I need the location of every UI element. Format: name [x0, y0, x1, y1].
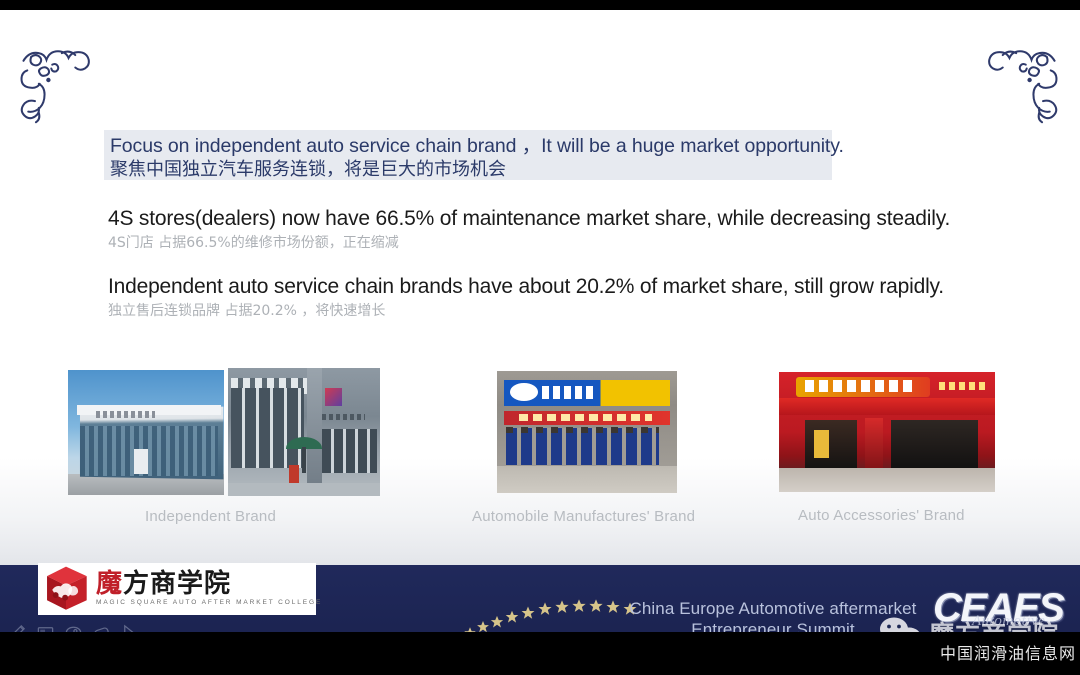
presentation-screen: Focus on independent auto service chain … — [0, 0, 1080, 675]
photo-caption-independent-brand: Independent Brand — [145, 508, 276, 525]
photo-caption-manufacturers-brand: Automobile Manufactures' Brand — [472, 508, 695, 525]
logo-chinese-name: 魔方商学院 — [96, 570, 322, 598]
slide-title-band: Focus on independent auto service chain … — [104, 130, 832, 180]
statement-2-english: Independent auto service chain brands ha… — [108, 274, 944, 300]
photo-dealership-exterior — [68, 370, 224, 495]
eraser-icon[interactable] — [64, 623, 83, 632]
bottom-bar-site-name: 中国润滑油信息网 — [940, 640, 1076, 664]
highlighter-icon[interactable] — [92, 623, 111, 632]
photo-row: Independent Brand Automobile Manufacture… — [0, 362, 1080, 537]
logo-text: 魔方商学院 MAGIC SQUARE AUTO AFTER MARKET COL… — [92, 570, 322, 608]
letterbox-top — [0, 0, 1080, 10]
logo-chars-black: 方商学院 — [123, 569, 231, 599]
annotation-toolbar[interactable] — [8, 623, 139, 632]
statement-1-chinese: 4S门店 占据66.5%的维修市场份额，正在缩减 — [108, 232, 950, 254]
slide-canvas: Focus on independent auto service chain … — [0, 10, 1080, 632]
letterbox-bottom — [0, 632, 1080, 675]
photo-chexiangjia-store — [497, 371, 677, 493]
logo-english-name: MAGIC SQUARE AUTO AFTER MARKET COLLEGE — [96, 598, 322, 608]
slide-title-english: Focus on independent auto service chain … — [110, 134, 824, 158]
wechat-icon — [878, 616, 924, 632]
photo-caption-accessories-brand: Auto Accessories' Brand — [798, 507, 965, 524]
statement-block-2: Independent auto service chain brands ha… — [108, 274, 944, 322]
college-logo: 魔方商学院 MAGIC SQUARE AUTO AFTER MARKET COL… — [38, 563, 316, 615]
slide-title-chinese: 聚焦中国独立汽车服务连锁，将是巨大的市场机会 — [110, 158, 824, 181]
cloud-ornament-mirrored-icon — [972, 32, 1068, 128]
statement-block-1: 4S stores(dealers) now have 66.5% of mai… — [108, 206, 950, 254]
wechat-account-name: 魔方商学院 — [929, 615, 1059, 632]
pointer-icon[interactable] — [120, 623, 139, 632]
photo-chekongjian-store — [779, 372, 995, 492]
logo-char-red: 魔 — [96, 569, 123, 599]
cloud-ornament-icon — [10, 32, 106, 128]
wechat-watermark: 魔方商学院 — [878, 615, 1059, 632]
statement-1-english: 4S stores(dealers) now have 66.5% of mai… — [108, 206, 950, 232]
statement-2-chinese: 独立售后连锁品牌 占据20.2% ，将快速增长 — [108, 300, 944, 322]
photo-dealership-showroom — [228, 368, 380, 496]
magic-cube-icon — [40, 564, 92, 614]
pen-icon[interactable] — [8, 623, 27, 632]
slide-icon[interactable] — [36, 623, 55, 632]
